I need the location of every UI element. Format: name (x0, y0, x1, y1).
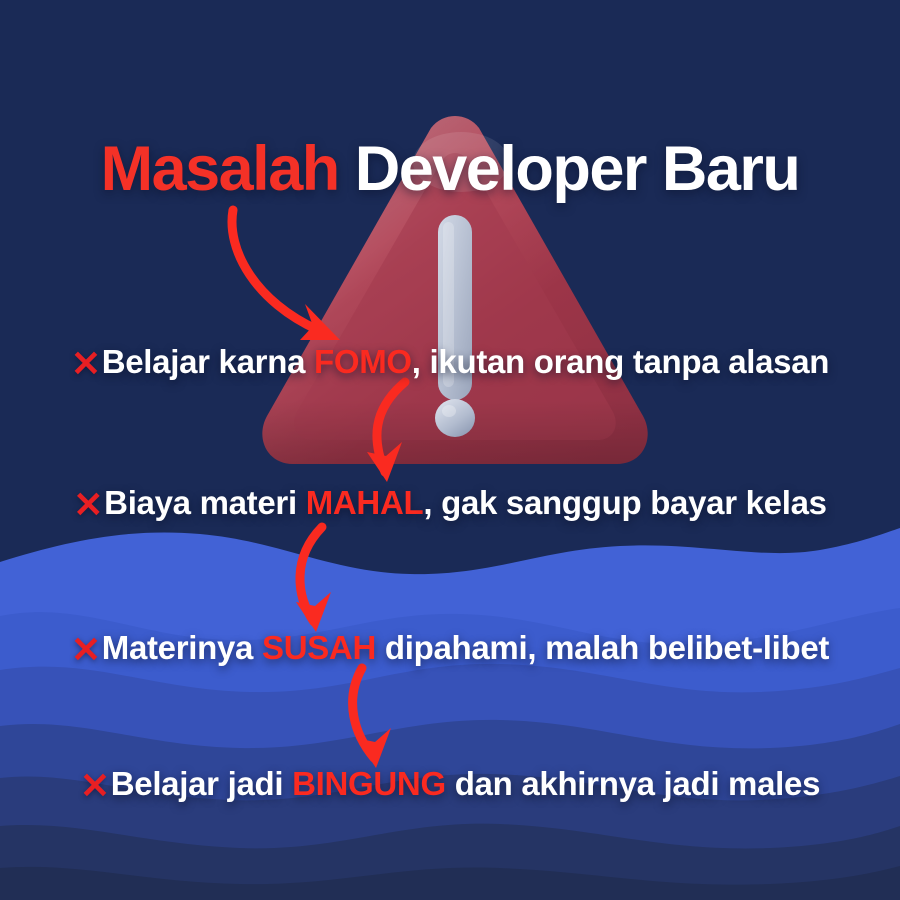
list-item-text-before: Belajar jadi (111, 765, 292, 802)
list-item-text-after: dipahami, malah belibet-libet (376, 629, 829, 666)
list-item-text-before: Belajar karna (102, 343, 314, 380)
cross-icon: ✕ (80, 768, 110, 804)
list-item-text-before: Materinya (102, 629, 262, 666)
page-title-white: Developer Baru (355, 134, 800, 204)
poster-canvas: Masalah Developer Baru ✕Belajar karna FO… (0, 0, 900, 900)
list-item-text-after: , gak sanggup bayar kelas (423, 484, 826, 521)
cross-icon: ✕ (71, 632, 101, 668)
list-item: ✕Belajar jadi BINGUNG dan akhirnya jadi … (0, 765, 900, 804)
exclamation-dot-highlight (442, 405, 456, 417)
page-title: Masalah Developer Baru (0, 138, 900, 201)
wave-background (0, 520, 900, 900)
list-item-text-after: , ikutan orang tanpa alasan (412, 343, 829, 380)
exclamation-dot (435, 399, 475, 437)
list-item-text-after: dan akhirnya jadi males (446, 765, 820, 802)
cross-icon: ✕ (71, 346, 101, 382)
list-item-highlight: BINGUNG (292, 765, 446, 802)
list-item-text-before: Biaya materi (104, 484, 306, 521)
cross-icon: ✕ (73, 487, 103, 523)
list-item-highlight: MAHAL (306, 484, 424, 521)
list-item: ✕Biaya materi MAHAL, gak sanggup bayar k… (0, 484, 900, 523)
list-item-highlight: SUSAH (262, 629, 376, 666)
list-item: ✕Materinya SUSAH dipahami, malah belibet… (0, 629, 900, 668)
list-item-highlight: FOMO (314, 343, 412, 380)
page-title-red: Masalah (101, 134, 339, 204)
list-item: ✕Belajar karna FOMO, ikutan orang tanpa … (0, 343, 900, 382)
